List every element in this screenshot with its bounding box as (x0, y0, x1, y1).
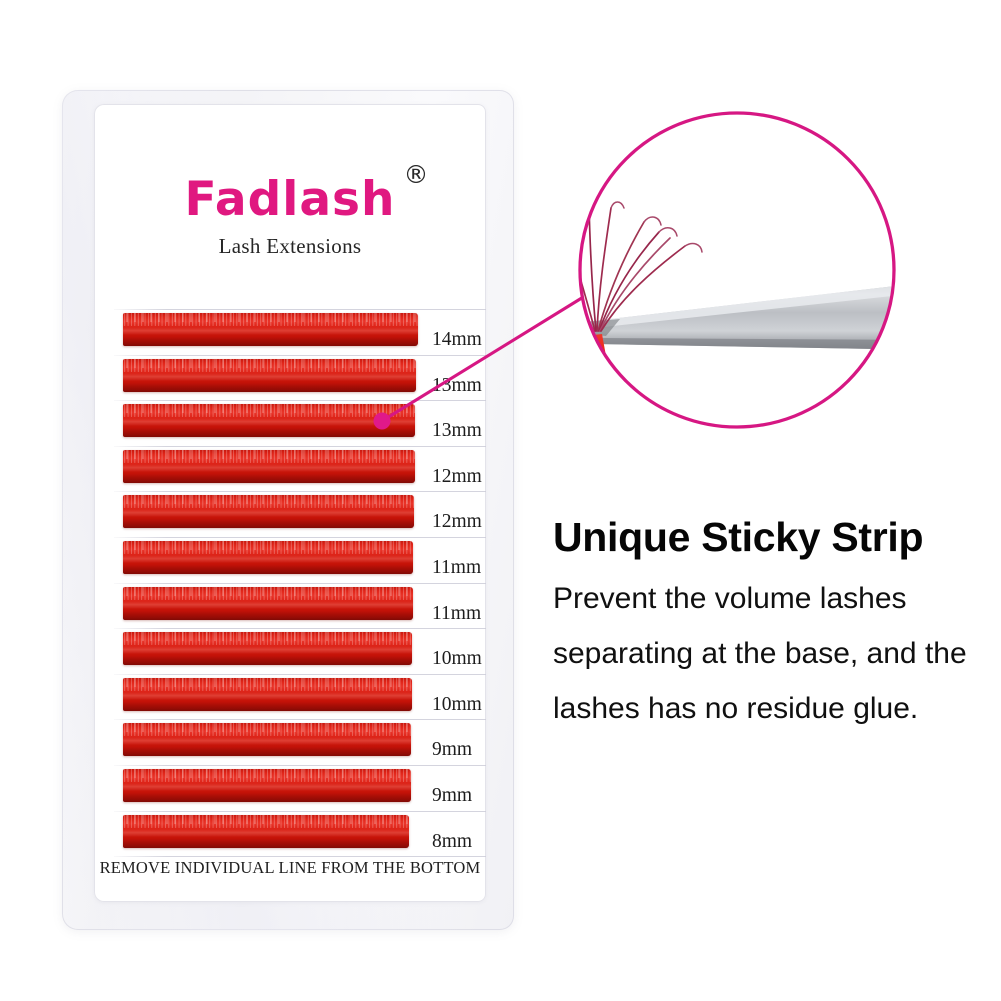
lash-bristles-highlight (123, 632, 412, 641)
strip-gloss (123, 555, 413, 563)
strip-shadow (123, 519, 414, 528)
lash-strip (123, 815, 409, 848)
tray-instruction-text: REMOVE INDIVIDUAL LINE FROM THE BOTTOM (94, 858, 486, 878)
strip-gloss (123, 737, 411, 745)
strip-shadow (123, 747, 411, 756)
lash-bristles-highlight (123, 587, 413, 596)
row-divider (114, 491, 486, 492)
marketing-copy: Unique Sticky Strip Prevent the volume l… (553, 516, 973, 724)
row-divider (114, 628, 486, 629)
lash-row: 10mm (94, 628, 486, 674)
strip-gloss (123, 829, 409, 837)
magnifier-callout (370, 100, 910, 445)
lash-strip (123, 632, 412, 665)
lash-strip (123, 723, 411, 756)
lash-row: 12mm (94, 446, 486, 492)
lash-bristles-highlight (123, 815, 409, 824)
feature-body-line: separating at the base, and the (553, 639, 973, 669)
row-divider (114, 537, 486, 538)
lash-strip (123, 587, 413, 620)
lash-size-label: 12mm (432, 511, 482, 533)
lash-row: 9mm (94, 719, 486, 765)
strip-shadow (123, 702, 412, 711)
lash-strip (123, 769, 411, 802)
callout-anchor-dot (374, 413, 391, 430)
feature-body-line: lashes has no residue glue. (553, 694, 973, 724)
lash-size-label: 11mm (432, 557, 481, 579)
strip-shadow (123, 565, 413, 574)
row-divider (114, 811, 486, 812)
strip-gloss (123, 692, 412, 700)
row-divider (114, 446, 486, 447)
strip-shadow (123, 656, 412, 665)
lash-row: 11mm (94, 583, 486, 629)
feature-body-line: Prevent the volume lashes (553, 584, 973, 614)
row-divider (114, 719, 486, 720)
strip-gloss (123, 509, 414, 517)
product-image-canvas: Fadlash® Lash Extensions 14mm (0, 0, 1001, 1001)
lash-strip (123, 495, 414, 528)
lash-row: 10mm (94, 674, 486, 720)
lash-bristles-highlight (123, 541, 413, 550)
strip-shadow (123, 611, 413, 620)
lash-bristles-highlight (123, 495, 414, 504)
lash-size-label: 12mm (432, 466, 482, 488)
lash-bristles-highlight (123, 450, 415, 459)
lash-size-label: 9mm (432, 785, 472, 807)
strip-gloss (123, 464, 415, 472)
lash-row: 8mm (94, 811, 486, 857)
lash-size-label: 8mm (432, 831, 472, 853)
feature-headline: Unique Sticky Strip (553, 516, 973, 559)
strip-gloss (123, 783, 411, 791)
lash-row: 12mm (94, 491, 486, 537)
row-divider (114, 765, 486, 766)
lash-size-label: 9mm (432, 739, 472, 761)
brand-logo: Fadlash® (185, 176, 396, 223)
row-divider (114, 583, 486, 584)
strip-shadow (123, 474, 415, 483)
lash-strip (123, 541, 413, 574)
lash-bristles-highlight (123, 723, 411, 732)
lash-bristles-highlight (123, 678, 412, 687)
row-divider (114, 674, 486, 675)
strip-shadow (123, 793, 411, 802)
magnifier-contents (501, 100, 910, 445)
strip-gloss (123, 646, 412, 654)
lash-size-label: 11mm (432, 603, 481, 625)
strip-shadow (123, 839, 409, 848)
lash-size-label: 10mm (432, 694, 482, 716)
lash-strip (123, 678, 412, 711)
lash-row: 9mm (94, 765, 486, 811)
callout-leader-line (374, 296, 586, 430)
lash-bristles-highlight (123, 769, 411, 778)
lash-size-label: 10mm (432, 648, 482, 670)
strip-gloss (123, 601, 413, 609)
lash-strip (123, 450, 415, 483)
lash-row: 11mm (94, 537, 486, 583)
brand-name-text: Fadlash (185, 172, 396, 227)
